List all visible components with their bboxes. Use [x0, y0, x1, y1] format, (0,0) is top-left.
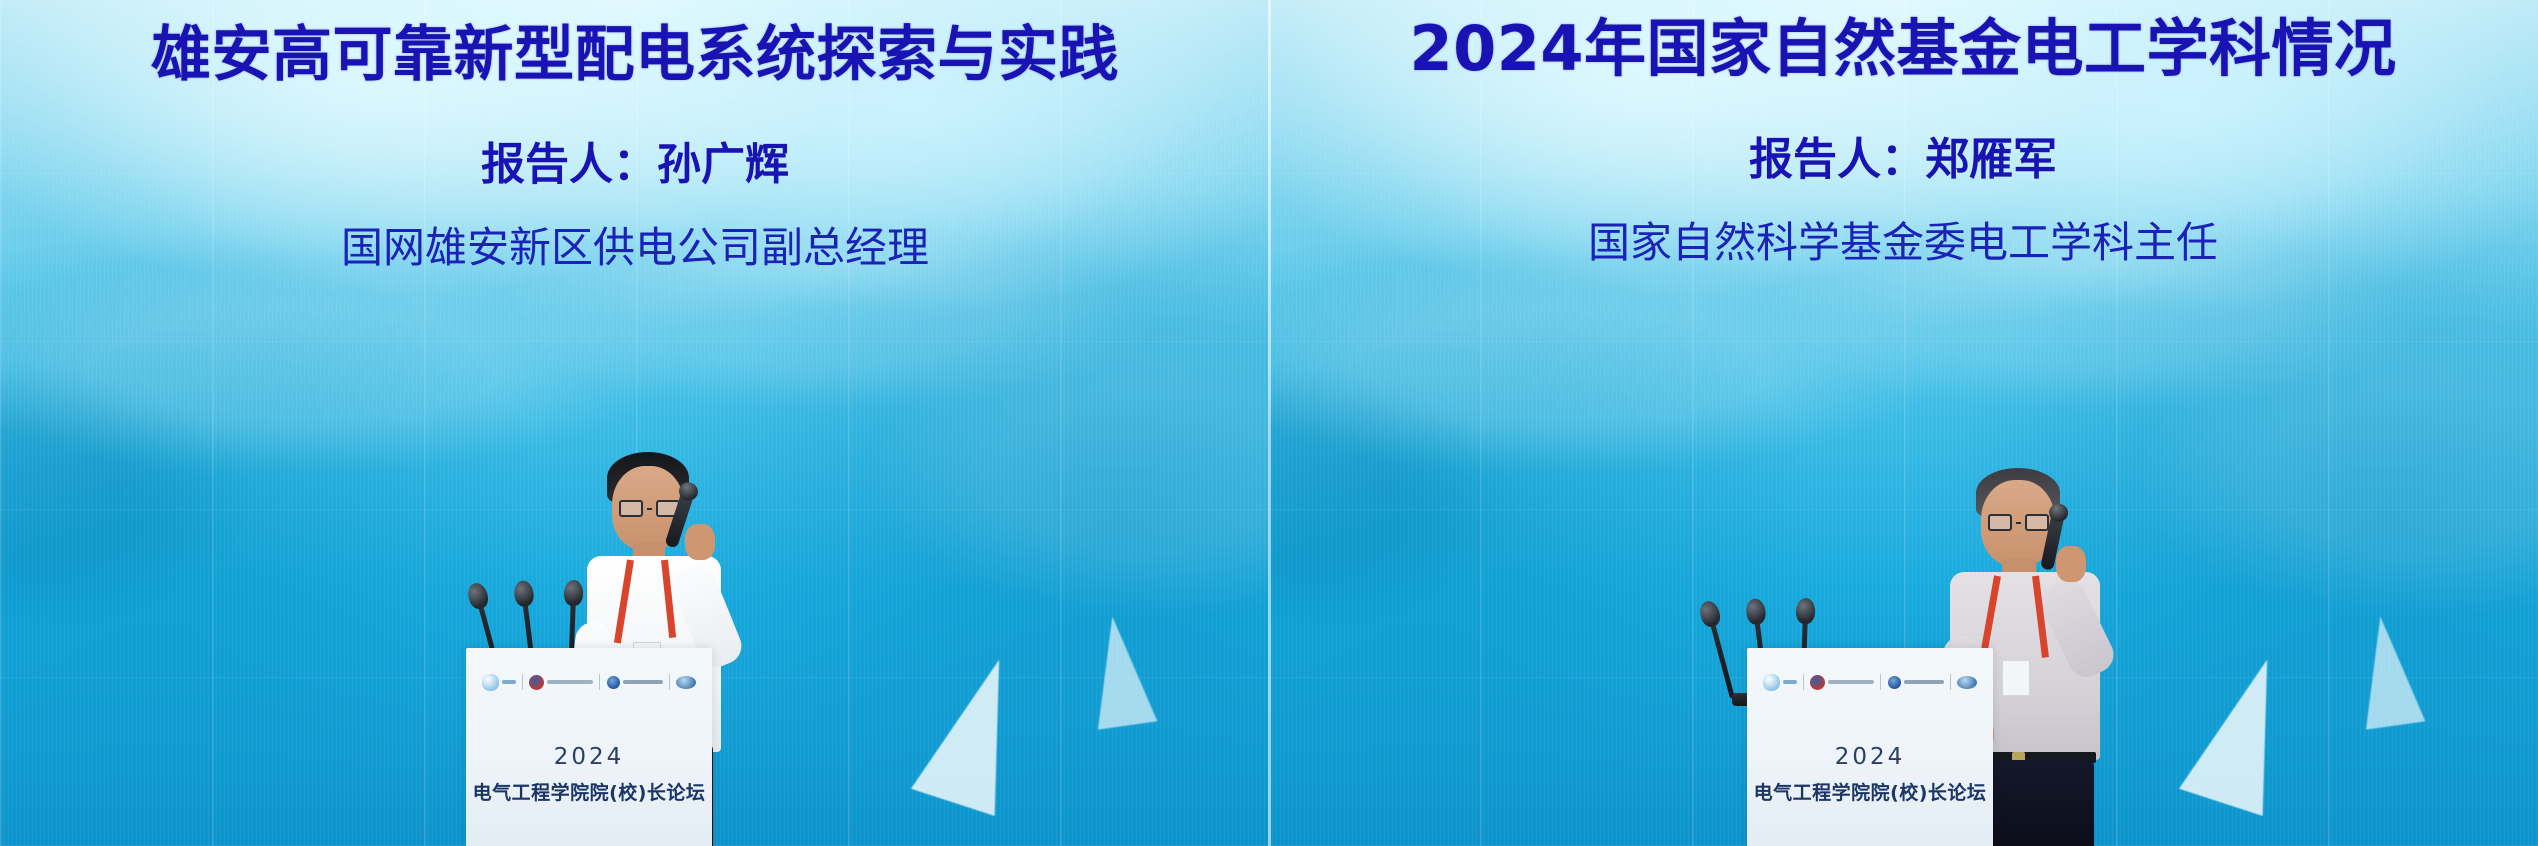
sponsor-logo-swoosh [482, 672, 516, 692]
eyeglasses-icon [619, 500, 680, 517]
divider [1950, 674, 1951, 690]
slide-affiliation: 国家自然科学基金委电工学科主任 [1268, 222, 2538, 264]
sponsor-logo-university [607, 672, 663, 692]
slide-text-left: 雄安高可靠新型配电系统探索与实践 报告人：孙广辉 国网雄安新区供电公司副总经理 [0, 0, 1270, 269]
sponsor-logo-circle-red [529, 672, 593, 692]
slide-title: 雄安高可靠新型配电系统探索与实践 [0, 25, 1270, 85]
podium-right: 2024 电气工程学院院(校)长论坛 [1747, 648, 1993, 846]
podium-event-name: 电气工程学院院(校)长论坛 [1747, 778, 1993, 805]
sponsor-logo-circle-red [1810, 672, 1874, 692]
podium-sponsor-logos [482, 670, 696, 694]
hand [685, 524, 715, 560]
divider [522, 674, 523, 690]
hand [2056, 546, 2086, 582]
sponsor-logo-university [1888, 672, 1944, 692]
divider [1880, 674, 1881, 690]
panel-right: 2024年国家自然基金电工学科情况 报告人：郑雁军 国家自然科学基金委电工学科主… [1268, 0, 2538, 846]
slide-affiliation: 国网雄安新区供电公司副总经理 [0, 227, 1270, 269]
slide-presenter: 报告人：郑雁军 [1268, 138, 2538, 182]
eyeglasses-icon [1988, 514, 2049, 531]
podium-sponsor-logos [1763, 670, 1977, 694]
podium-year: 2024 [1747, 744, 1993, 770]
sponsor-logo-oval-blue [676, 672, 696, 692]
slide-title: 2024年国家自然基金电工学科情况 [1268, 18, 2538, 80]
podium-left: 2024 电气工程学院院(校)长论坛 [466, 648, 712, 846]
podium-year: 2024 [466, 744, 712, 770]
divider [669, 674, 670, 690]
panel-left: 雄安高可靠新型配电系统探索与实践 报告人：孙广辉 国网雄安新区供电公司副总经理 [0, 0, 1270, 846]
divider [1803, 674, 1804, 690]
panel-divider [1268, 0, 1271, 846]
podium-event-name: 电气工程学院院(校)长论坛 [466, 778, 712, 805]
slide-presenter: 报告人：孙广辉 [0, 143, 1270, 187]
badge [2002, 660, 2030, 696]
divider [599, 674, 600, 690]
split-screen-stage: 雄安高可靠新型配电系统探索与实践 报告人：孙广辉 国网雄安新区供电公司副总经理 [0, 0, 2538, 846]
sponsor-logo-oval-blue [1957, 672, 1977, 692]
slide-text-right: 2024年国家自然基金电工学科情况 报告人：郑雁军 国家自然科学基金委电工学科主… [1268, 0, 2538, 264]
sponsor-logo-swoosh [1763, 672, 1797, 692]
